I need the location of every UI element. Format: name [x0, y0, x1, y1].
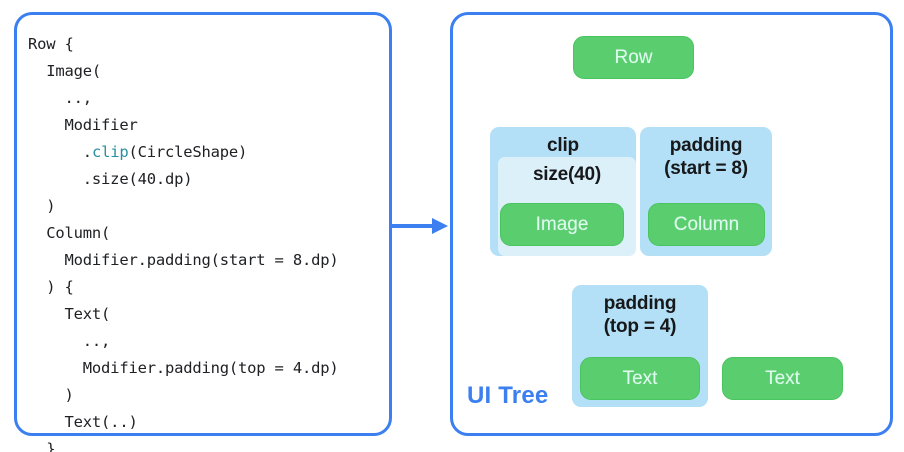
code-keyword: clip	[92, 143, 129, 161]
node-image-label: Image	[536, 214, 589, 236]
modifier-padding-start-label-line1: padding	[670, 134, 742, 157]
arrow-right-icon	[390, 215, 450, 237]
modifier-padding-top-label-line2: (top = 4)	[604, 315, 677, 338]
ui-tree-caption: UI Tree	[467, 382, 548, 410]
modifier-padding-top-label-line1: padding	[604, 292, 676, 315]
modifier-clip-label: clip	[547, 134, 579, 157]
node-row[interactable]: Row	[573, 36, 694, 79]
node-column[interactable]: Column	[648, 203, 765, 246]
modifier-size-label: size(40)	[533, 163, 601, 186]
code-panel: Row { Image( .., Modifier .clip(CircleSh…	[14, 12, 392, 436]
node-text-second[interactable]: Text	[722, 357, 843, 400]
node-image[interactable]: Image	[500, 203, 624, 246]
code-block: Row { Image( .., Modifier .clip(CircleSh…	[28, 31, 338, 452]
node-text-first-label: Text	[623, 368, 658, 390]
node-row-label: Row	[614, 47, 652, 69]
node-column-label: Column	[674, 214, 739, 236]
node-text-first[interactable]: Text	[580, 357, 700, 400]
modifier-padding-start-label-line2: (start = 8)	[664, 157, 748, 180]
node-text-second-label: Text	[765, 368, 800, 390]
diagram-canvas: Row { Image( .., Modifier .clip(CircleSh…	[0, 0, 904, 452]
